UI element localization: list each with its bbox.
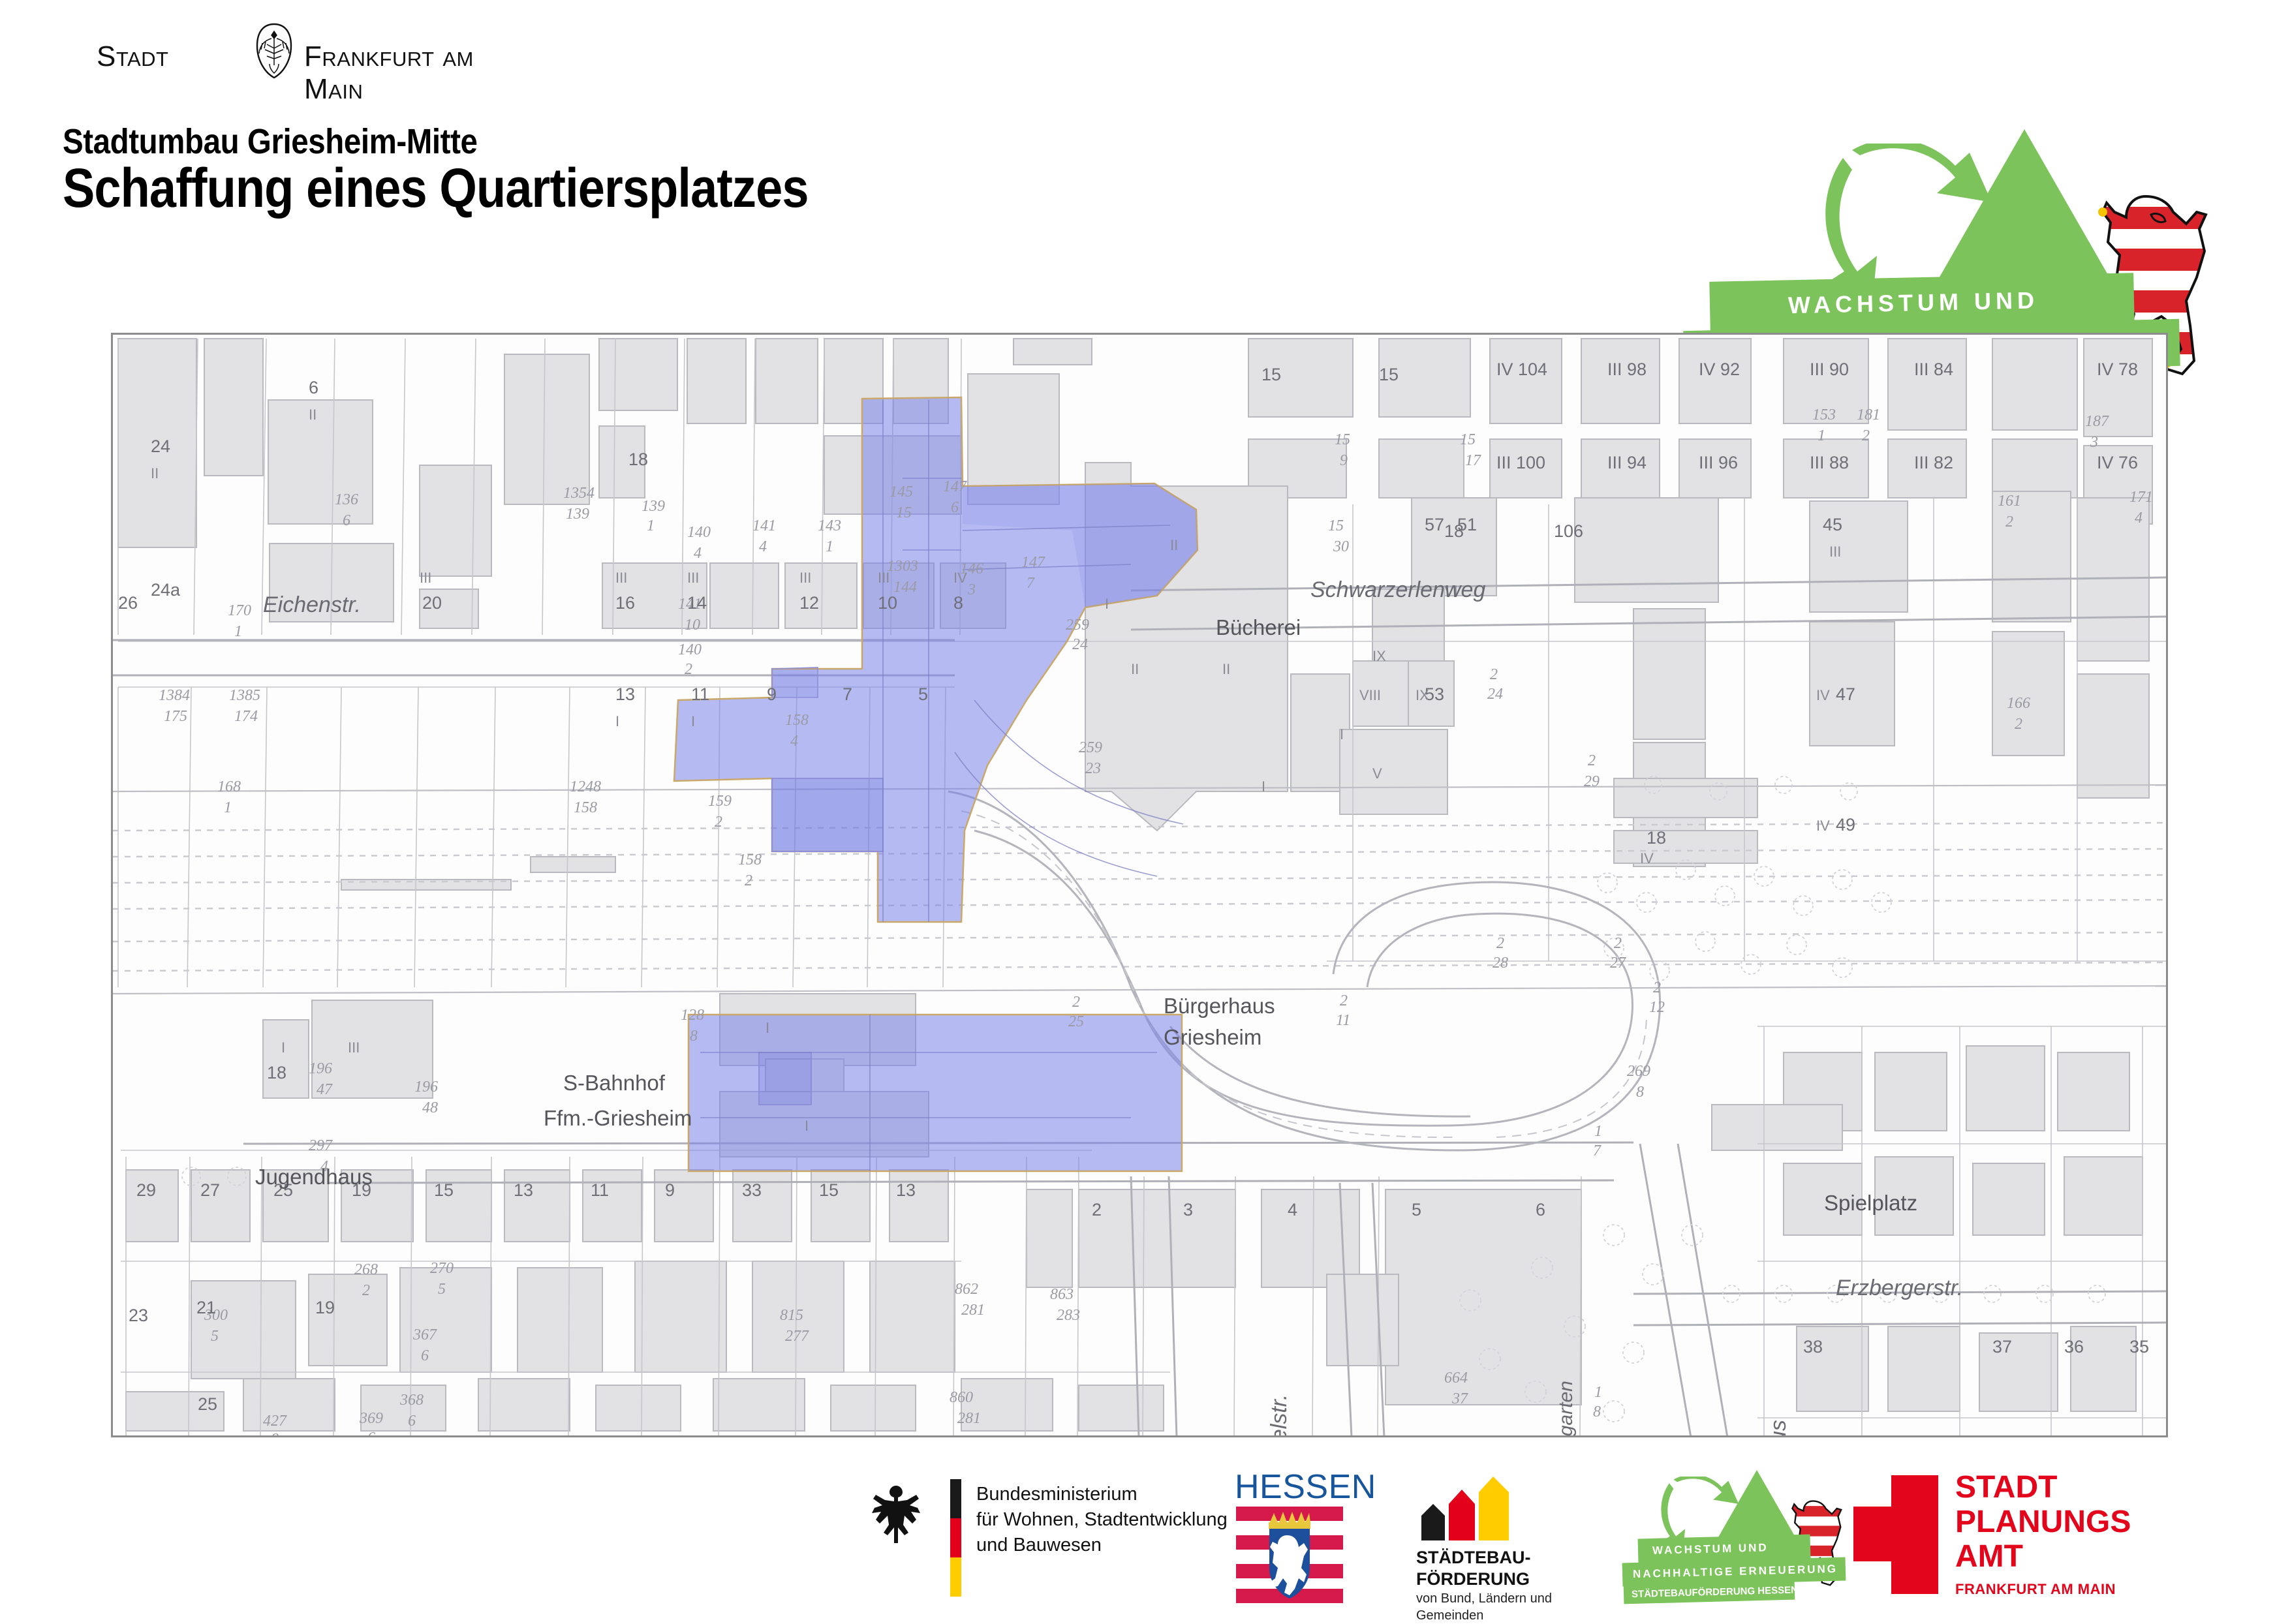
svg-text:11: 11 <box>591 1180 609 1200</box>
svg-text:IV: IV <box>1816 818 1830 834</box>
svg-text:III: III <box>687 570 699 586</box>
svg-text:IV: IV <box>1640 850 1654 866</box>
svg-text:47: 47 <box>317 1081 333 1098</box>
svg-text:18: 18 <box>267 1063 286 1082</box>
stbf-line2: FÖRDERUNG <box>1416 1569 1531 1590</box>
svg-text:I: I <box>615 713 619 729</box>
svg-text:2: 2 <box>685 661 692 678</box>
svg-text:6: 6 <box>951 499 959 516</box>
svg-text:IX: IX <box>1372 648 1386 664</box>
svg-text:24: 24 <box>1487 686 1503 703</box>
svg-text:I: I <box>1261 778 1265 795</box>
svg-text:III 84: III 84 <box>1914 360 1953 379</box>
svg-text:20: 20 <box>422 593 442 613</box>
frankfurt-eagle-crest-icon <box>254 22 294 80</box>
svg-text:139: 139 <box>566 506 589 523</box>
svg-text:9: 9 <box>767 684 777 704</box>
svg-text:15: 15 <box>819 1180 839 1200</box>
svg-text:IV 78: IV 78 <box>2097 360 2138 379</box>
svg-text:24a: 24a <box>151 580 181 600</box>
svg-text:28: 28 <box>1493 955 1508 972</box>
svg-text:IV: IV <box>1816 687 1830 703</box>
svg-text:37: 37 <box>1992 1337 2012 1356</box>
hessen-wordmark: HESSEN <box>1235 1467 1376 1507</box>
svg-text:38: 38 <box>1803 1337 1823 1356</box>
svg-text:2: 2 <box>1490 666 1498 683</box>
svg-text:19: 19 <box>352 1180 371 1200</box>
spa-line2: PLANUNGS <box>1955 1505 2131 1539</box>
svg-text:136: 136 <box>335 491 358 508</box>
svg-text:III 88: III 88 <box>1810 453 1849 472</box>
spa-sub: FRANKFURT AM MAIN <box>1955 1581 2116 1598</box>
bmwsb-line2: für Wohnen, Stadtentwicklung <box>976 1507 1228 1533</box>
svg-text:2: 2 <box>1496 935 1504 952</box>
svg-text:III 98: III 98 <box>1607 360 1647 379</box>
green-small-line3: STÄDTEBAUFÖRDERUNG HESSEN <box>1624 1580 1795 1604</box>
svg-text:8: 8 <box>271 1431 279 1435</box>
svg-text:2: 2 <box>2015 716 2022 733</box>
spa-wordmark: STADT PLANUNGS AMT <box>1955 1470 2131 1574</box>
svg-text:2: 2 <box>1588 752 1596 769</box>
svg-text:147: 147 <box>1021 554 1045 571</box>
svg-text:1: 1 <box>1594 1384 1602 1401</box>
svg-text:6: 6 <box>309 378 318 397</box>
svg-text:III: III <box>615 570 627 586</box>
svg-text:III 82: III 82 <box>1914 453 1953 472</box>
svg-text:269: 269 <box>1627 1063 1650 1080</box>
svg-text:IX: IX <box>1416 687 1429 703</box>
svg-text:23: 23 <box>129 1306 148 1325</box>
svg-text:19: 19 <box>315 1298 335 1317</box>
svg-text:III: III <box>348 1039 360 1056</box>
svg-text:161: 161 <box>1998 493 2021 510</box>
svg-text:4: 4 <box>2135 510 2143 527</box>
svg-text:863: 863 <box>1050 1286 1074 1303</box>
svg-text:281: 281 <box>957 1410 981 1427</box>
svg-text:36: 36 <box>2064 1337 2084 1356</box>
svg-text:1385: 1385 <box>229 687 260 704</box>
svg-text:2: 2 <box>1862 427 1870 444</box>
svg-text:141: 141 <box>752 517 776 534</box>
svg-text:1: 1 <box>1594 1123 1602 1140</box>
svg-text:15: 15 <box>896 504 912 521</box>
city-logo-left-text: Stadt <box>97 40 168 73</box>
svg-text:18: 18 <box>1647 828 1666 848</box>
svg-text:4: 4 <box>320 1158 328 1175</box>
svg-text:7: 7 <box>843 684 852 704</box>
svg-text:IV 104: IV 104 <box>1496 360 1547 379</box>
svg-text:171: 171 <box>2129 489 2153 506</box>
svg-text:VIII: VIII <box>1359 687 1381 703</box>
svg-text:15: 15 <box>1379 365 1399 384</box>
svg-text:175: 175 <box>164 708 187 725</box>
svg-text:VI: VI <box>1444 583 1458 599</box>
bmwsb-text: Bundesministerium für Wohnen, Stadtentwi… <box>976 1482 1228 1558</box>
svg-text:IV 76: IV 76 <box>2097 453 2138 472</box>
svg-text:862: 862 <box>955 1281 978 1298</box>
svg-text:17: 17 <box>1465 452 1481 469</box>
city-logo-right-text: Frankfurt am Main <box>304 40 514 106</box>
svg-text:27: 27 <box>200 1180 220 1200</box>
svg-text:13: 13 <box>514 1180 533 1200</box>
footer-logo-stadtplanungsamt: STADT PLANUNGS AMT FRANKFURT AM MAIN <box>1853 1465 2167 1618</box>
svg-text:I: I <box>1340 726 1344 743</box>
svg-text:187: 187 <box>2085 413 2109 430</box>
svg-text:270: 270 <box>430 1260 454 1277</box>
svg-text:II: II <box>1170 537 1178 553</box>
svg-text:35: 35 <box>2129 1337 2149 1356</box>
svg-text:15: 15 <box>1460 431 1476 448</box>
svg-text:26: 26 <box>118 593 138 613</box>
svg-text:140: 140 <box>678 641 702 658</box>
bmwsb-line3: und Bauwesen <box>976 1533 1228 1558</box>
svg-text:368: 368 <box>399 1392 424 1409</box>
svg-text:369: 369 <box>359 1410 383 1427</box>
svg-text:III: III <box>420 570 431 586</box>
bmwsb-line1: Bundesministerium <box>976 1482 1228 1507</box>
svg-text:I: I <box>1105 596 1109 612</box>
svg-text:168: 168 <box>217 778 241 795</box>
svg-text:30: 30 <box>1333 538 1349 555</box>
svg-text:2: 2 <box>1340 992 1348 1009</box>
svg-text:IV 92: IV 92 <box>1699 360 1740 379</box>
german-flag-bar-icon <box>950 1479 961 1597</box>
city-of-frankfurt-logo: Stadt Frankfurt am Main <box>97 34 514 81</box>
svg-text:166: 166 <box>2007 695 2030 712</box>
svg-text:6: 6 <box>421 1347 429 1364</box>
svg-text:18: 18 <box>628 450 648 469</box>
svg-text:8: 8 <box>1593 1403 1601 1420</box>
svg-text:III: III <box>1829 544 1841 560</box>
svg-text:4: 4 <box>790 733 798 750</box>
svg-text:6: 6 <box>408 1413 416 1430</box>
svg-text:11: 11 <box>691 684 709 704</box>
svg-text:15: 15 <box>1335 431 1350 448</box>
three-houses-icon <box>1416 1475 1514 1540</box>
svg-text:II: II <box>309 406 317 423</box>
svg-text:27: 27 <box>1610 955 1626 972</box>
svg-text:IV: IV <box>953 570 967 586</box>
svg-text:106: 106 <box>1554 521 1583 541</box>
svg-text:15: 15 <box>434 1180 454 1200</box>
stbf-sub2: Gemeinden <box>1416 1607 1552 1624</box>
svg-text:6: 6 <box>1536 1200 1545 1219</box>
svg-text:158: 158 <box>574 799 597 816</box>
cadastral-site-map[interactable]: 1366 1354139 1391 1404 14110 1402 1414 1… <box>111 333 2168 1437</box>
up-arrow-icon <box>1938 129 2111 279</box>
svg-text:47: 47 <box>1836 684 1855 704</box>
svg-text:3: 3 <box>1183 1200 1193 1219</box>
svg-text:170: 170 <box>228 602 251 619</box>
svg-text:29: 29 <box>136 1180 156 1200</box>
svg-text:5: 5 <box>918 684 928 704</box>
svg-text:13: 13 <box>615 684 635 704</box>
svg-text:5: 5 <box>211 1328 219 1345</box>
svg-text:153: 153 <box>1812 406 1836 423</box>
svg-text:8: 8 <box>953 593 963 613</box>
svg-text:281: 281 <box>961 1302 985 1319</box>
svg-text:5: 5 <box>438 1281 446 1298</box>
svg-text:15: 15 <box>1261 365 1281 384</box>
svg-text:147: 147 <box>943 478 967 495</box>
stbf-sub: von Bund, Ländern und Gemeinden <box>1416 1590 1552 1624</box>
svg-text:III 94: III 94 <box>1607 453 1647 472</box>
spa-line1: STADT <box>1955 1470 2131 1505</box>
svg-text:49: 49 <box>1836 815 1855 835</box>
svg-text:860: 860 <box>950 1389 973 1406</box>
stadtplanungsamt-mark-icon <box>1853 1475 1938 1594</box>
svg-text:57: 57 <box>1425 515 1444 534</box>
svg-text:196: 196 <box>414 1079 438 1095</box>
hessen-coat-of-arms-icon <box>1236 1505 1343 1603</box>
svg-text:III 96: III 96 <box>1699 453 1738 472</box>
svg-text:140: 140 <box>687 524 711 541</box>
svg-text:11: 11 <box>1336 1012 1350 1029</box>
svg-text:259: 259 <box>1079 739 1102 756</box>
svg-text:1: 1 <box>234 623 242 640</box>
svg-text:4: 4 <box>759 538 767 555</box>
svg-text:V: V <box>1372 765 1382 782</box>
svg-text:7: 7 <box>1593 1142 1601 1159</box>
svg-text:25: 25 <box>1068 1013 1084 1030</box>
svg-text:14: 14 <box>687 593 707 613</box>
svg-text:159: 159 <box>708 793 732 810</box>
svg-text:II: II <box>151 465 159 482</box>
svg-text:10: 10 <box>685 617 700 634</box>
svg-text:145: 145 <box>890 483 913 500</box>
svg-text:259: 259 <box>1066 617 1089 634</box>
svg-text:1: 1 <box>826 538 833 555</box>
svg-text:297: 297 <box>309 1137 333 1154</box>
svg-text:6: 6 <box>343 512 350 529</box>
svg-text:25: 25 <box>273 1180 293 1200</box>
svg-text:16: 16 <box>615 593 635 613</box>
svg-text:I: I <box>281 1039 285 1056</box>
svg-text:2: 2 <box>362 1282 370 1299</box>
svg-text:7: 7 <box>1027 575 1035 592</box>
footer-logo-bmwsb: Bundesministerium für Wohnen, Stadtentwi… <box>868 1465 1233 1618</box>
svg-text:2: 2 <box>2005 513 2013 530</box>
svg-text:48: 48 <box>422 1099 438 1116</box>
svg-text:29: 29 <box>1584 773 1600 790</box>
svg-text:3: 3 <box>967 581 976 598</box>
svg-text:6: 6 <box>367 1430 375 1435</box>
svg-text:51: 51 <box>1457 515 1477 534</box>
svg-text:12: 12 <box>1649 999 1665 1016</box>
svg-text:37: 37 <box>1451 1390 1468 1407</box>
svg-text:268: 268 <box>354 1261 378 1278</box>
svg-text:33: 33 <box>742 1180 762 1200</box>
svg-text:25: 25 <box>198 1394 217 1414</box>
svg-text:196: 196 <box>309 1060 332 1077</box>
svg-text:283: 283 <box>1057 1307 1080 1324</box>
svg-text:45: 45 <box>1823 515 1842 534</box>
svg-text:9: 9 <box>1340 452 1348 469</box>
svg-text:13: 13 <box>896 1180 916 1200</box>
svg-text:5: 5 <box>1412 1200 1421 1219</box>
page-header: Stadt Frankfurt am Main Stadtumbau Gries… <box>0 0 2290 326</box>
svg-text:III: III <box>799 570 811 586</box>
page-footer: Bundesministerium für Wohnen, Stadtentwi… <box>0 1465 2290 1618</box>
svg-text:II: II <box>1131 661 1139 677</box>
svg-text:4: 4 <box>1288 1200 1297 1219</box>
svg-text:1248: 1248 <box>570 778 601 795</box>
stbf-sub1: von Bund, Ländern und <box>1416 1590 1552 1607</box>
svg-text:I: I <box>766 1020 769 1036</box>
svg-text:1: 1 <box>224 799 232 816</box>
svg-text:I: I <box>691 713 695 729</box>
svg-text:2: 2 <box>715 814 722 831</box>
spa-line3: AMT <box>1955 1539 2131 1574</box>
bundesadler-icon <box>868 1483 924 1546</box>
svg-text:I: I <box>805 1118 809 1134</box>
svg-text:II: II <box>1222 661 1230 677</box>
svg-text:24: 24 <box>1072 636 1088 653</box>
svg-text:15: 15 <box>1328 517 1344 534</box>
svg-text:2: 2 <box>1653 979 1661 996</box>
svg-text:1303: 1303 <box>887 558 918 575</box>
svg-text:III: III <box>878 570 890 586</box>
page-title: Schaffung eines Quartiersplatzes <box>63 157 809 220</box>
svg-text:8: 8 <box>1636 1084 1644 1101</box>
svg-text:III 100: III 100 <box>1496 453 1545 472</box>
svg-text:1: 1 <box>1818 427 1825 444</box>
svg-text:4: 4 <box>694 545 702 562</box>
svg-text:23: 23 <box>1085 760 1101 777</box>
svg-text:1354: 1354 <box>563 485 595 502</box>
svg-text:139: 139 <box>642 498 665 515</box>
svg-text:8: 8 <box>690 1028 698 1045</box>
svg-text:143: 143 <box>818 517 841 534</box>
svg-text:12: 12 <box>799 593 819 613</box>
svg-text:181: 181 <box>1857 406 1880 423</box>
footer-logo-wachstum-und-nachhaltige-erneuerung: WACHSTUM UND NACHHALTIGE ERNEUERUNG STÄD… <box>1618 1465 1893 1618</box>
svg-text:367: 367 <box>412 1326 437 1343</box>
svg-text:1: 1 <box>647 517 655 534</box>
svg-text:815: 815 <box>780 1307 803 1324</box>
svg-text:1384: 1384 <box>159 687 190 704</box>
svg-text:2: 2 <box>1072 994 1080 1011</box>
svg-text:2: 2 <box>745 872 752 889</box>
footer-logo-hessen: HESSEN <box>1226 1465 1356 1618</box>
svg-text:174: 174 <box>234 708 258 725</box>
stbf-line1: STÄDTEBAU- <box>1416 1547 1531 1569</box>
svg-text:664: 664 <box>1444 1370 1468 1387</box>
svg-text:128: 128 <box>681 1007 704 1024</box>
svg-text:2: 2 <box>1092 1200 1102 1219</box>
svg-text:10: 10 <box>878 593 897 613</box>
svg-text:277: 277 <box>785 1328 809 1345</box>
svg-text:2: 2 <box>1614 935 1622 952</box>
svg-text:9: 9 <box>665 1180 675 1200</box>
footer-logo-staedtebaufoerderung: STÄDTEBAU- FÖRDERUNG von Bund, Ländern u… <box>1403 1465 1599 1618</box>
svg-text:24: 24 <box>151 437 170 456</box>
svg-text:3: 3 <box>2090 434 2098 451</box>
map-canvas: 1366 1354139 1391 1404 14110 1402 1414 1… <box>113 335 2166 1435</box>
stbf-title: STÄDTEBAU- FÖRDERUNG <box>1416 1547 1531 1590</box>
svg-text:III 90: III 90 <box>1810 360 1849 379</box>
svg-text:158: 158 <box>785 712 809 729</box>
svg-text:427: 427 <box>263 1413 287 1430</box>
svg-text:21: 21 <box>196 1298 216 1317</box>
page-subtitle: Stadtumbau Griesheim-Mitte <box>63 121 477 162</box>
svg-text:158: 158 <box>738 851 762 868</box>
